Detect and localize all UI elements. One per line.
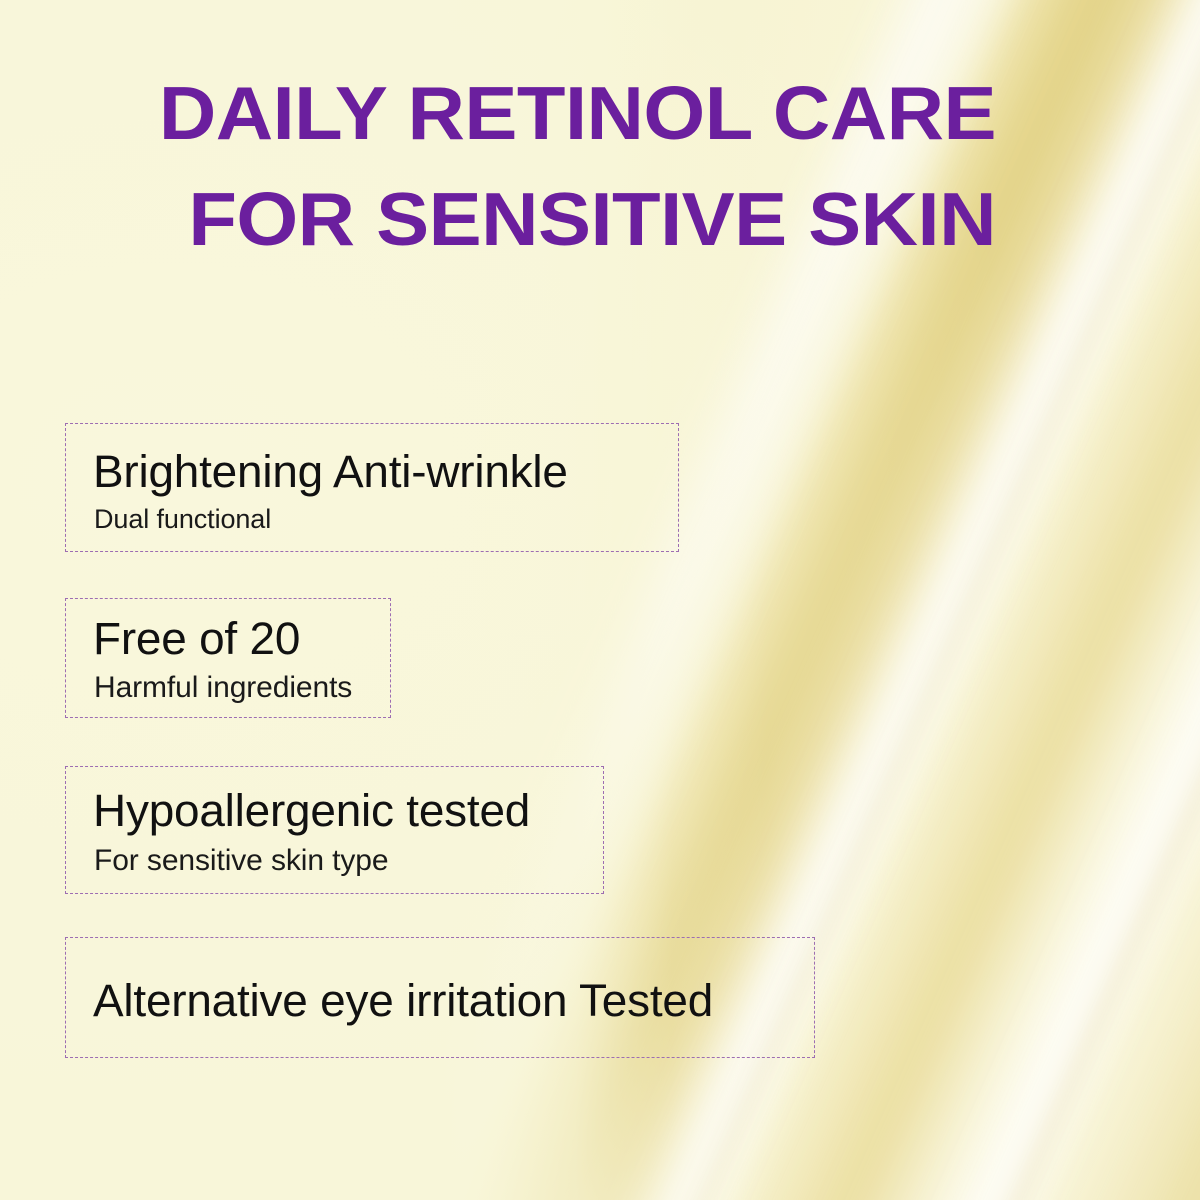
product-banner-canvas: DAILY RETINOL CARE FOR SENSITIVE SKIN Br… [0, 0, 1200, 1200]
headline-line-2: FOR SENSITIVE SKIN [0, 166, 996, 272]
feature-box-alternative-eye-irritation-tested: Alternative eye irritation Tested [65, 937, 815, 1058]
feature-subtitle: Harmful ingredients [94, 671, 352, 705]
feature-title: Hypoallergenic tested [93, 785, 530, 837]
headline-line-1: DAILY RETINOL CARE [0, 60, 996, 166]
headline: DAILY RETINOL CARE FOR SENSITIVE SKIN [0, 60, 996, 272]
feature-title: Brightening Anti-wrinkle [93, 446, 568, 498]
feature-subtitle: For sensitive skin type [94, 844, 388, 878]
feature-title: Free of 20 [93, 613, 300, 665]
feature-title: Alternative eye irritation Tested [93, 975, 713, 1027]
banner-content: DAILY RETINOL CARE FOR SENSITIVE SKIN Br… [0, 0, 1200, 1200]
feature-box-free-of-20: Free of 20 Harmful ingredients [65, 598, 391, 718]
feature-box-hypoallergenic-tested: Hypoallergenic tested For sensitive skin… [65, 766, 604, 894]
feature-subtitle: Dual functional [94, 504, 271, 535]
feature-box-brightening-anti-wrinkle: Brightening Anti-wrinkle Dual functional [65, 423, 679, 552]
